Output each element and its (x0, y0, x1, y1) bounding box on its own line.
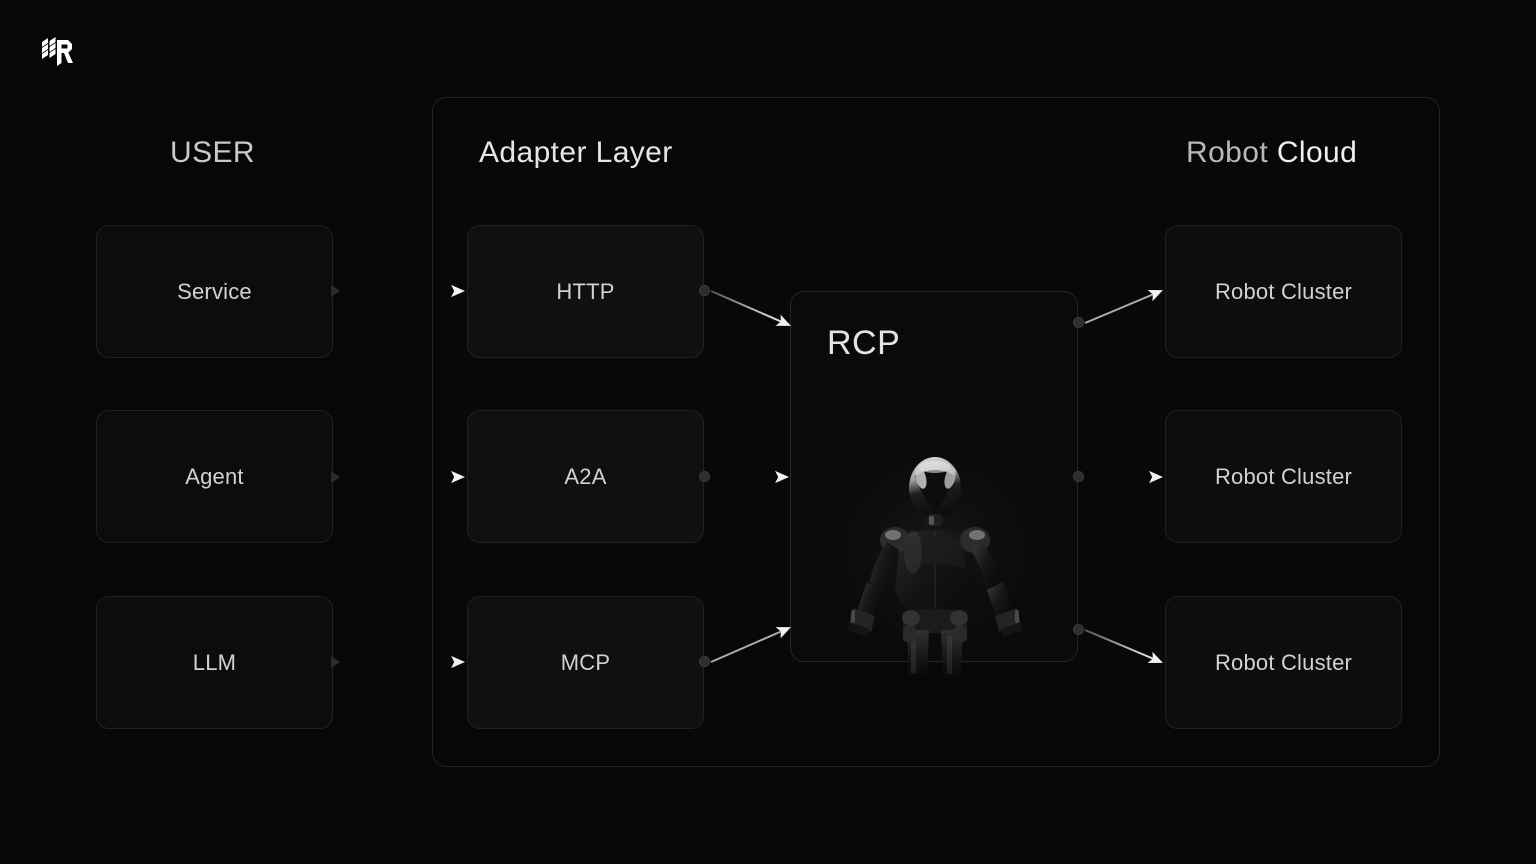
arrow-http-to-rcp (711, 291, 789, 325)
arrow-rcp-to-cluster-1 (1085, 291, 1161, 323)
arrow-mcp-to-rcp (711, 628, 789, 662)
connection-arrows-layer (0, 0, 1536, 864)
arrow-rcp-to-cluster-3 (1085, 630, 1161, 662)
diagram-canvas: USER Adapter Layer Robot Cloud Service A… (0, 0, 1536, 864)
